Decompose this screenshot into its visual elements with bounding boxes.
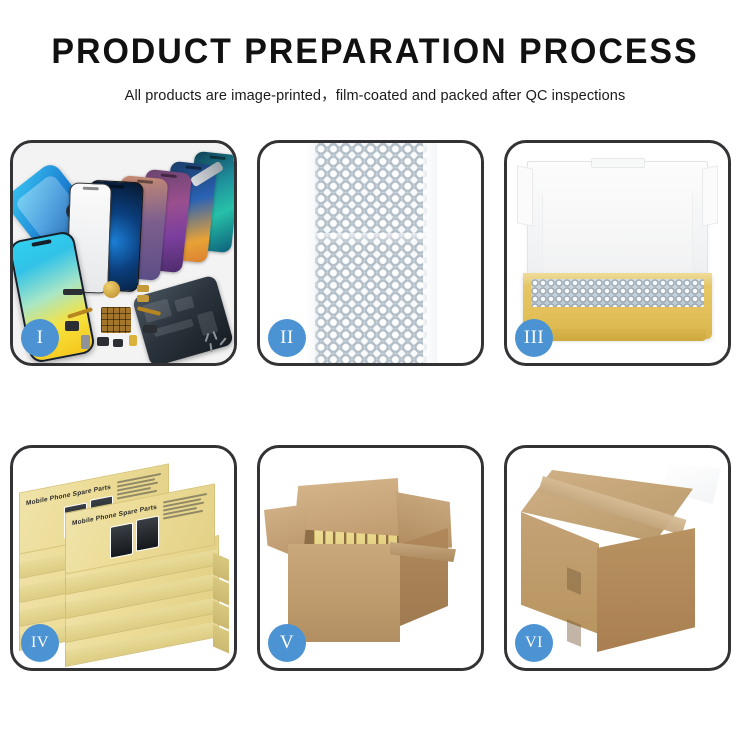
step-badge-5: V: [268, 624, 306, 662]
product-preparation-infographic: PRODUCT PREPARATION PROCESS All products…: [0, 0, 750, 750]
step-panel-4: Mobile Phone Spare Parts Mobile Phone Sp…: [10, 445, 237, 671]
bubble-wrap-icon: [315, 143, 427, 363]
inner-box-icon: [523, 161, 712, 339]
page-title: PRODUCT PREPARATION PROCESS: [11, 34, 739, 69]
step-panel-3: III: [504, 140, 731, 366]
step-badge-3: III: [515, 319, 553, 357]
screws-icon: [204, 331, 230, 353]
spare-parts-group-icon: [63, 281, 183, 355]
step-badge-2: II: [268, 319, 306, 357]
step-badge-1: I: [21, 319, 59, 357]
step-badge-4: IV: [21, 624, 59, 662]
step-panel-6: VI: [504, 445, 731, 671]
step-badge-6: VI: [515, 624, 553, 662]
process-steps-grid: I II: [10, 140, 740, 671]
page-subtitle: All products are image-printed，film-coat…: [0, 84, 750, 105]
sealed-carton-icon: [521, 470, 719, 650]
step-panel-1: I: [10, 140, 237, 366]
header: PRODUCT PREPARATION PROCESS All products…: [0, 0, 750, 105]
step-panel-5: V: [257, 445, 484, 671]
open-carton-icon: [278, 470, 468, 652]
bubble-wrap-fill-icon: [531, 279, 704, 307]
step-panel-2: II: [257, 140, 484, 366]
